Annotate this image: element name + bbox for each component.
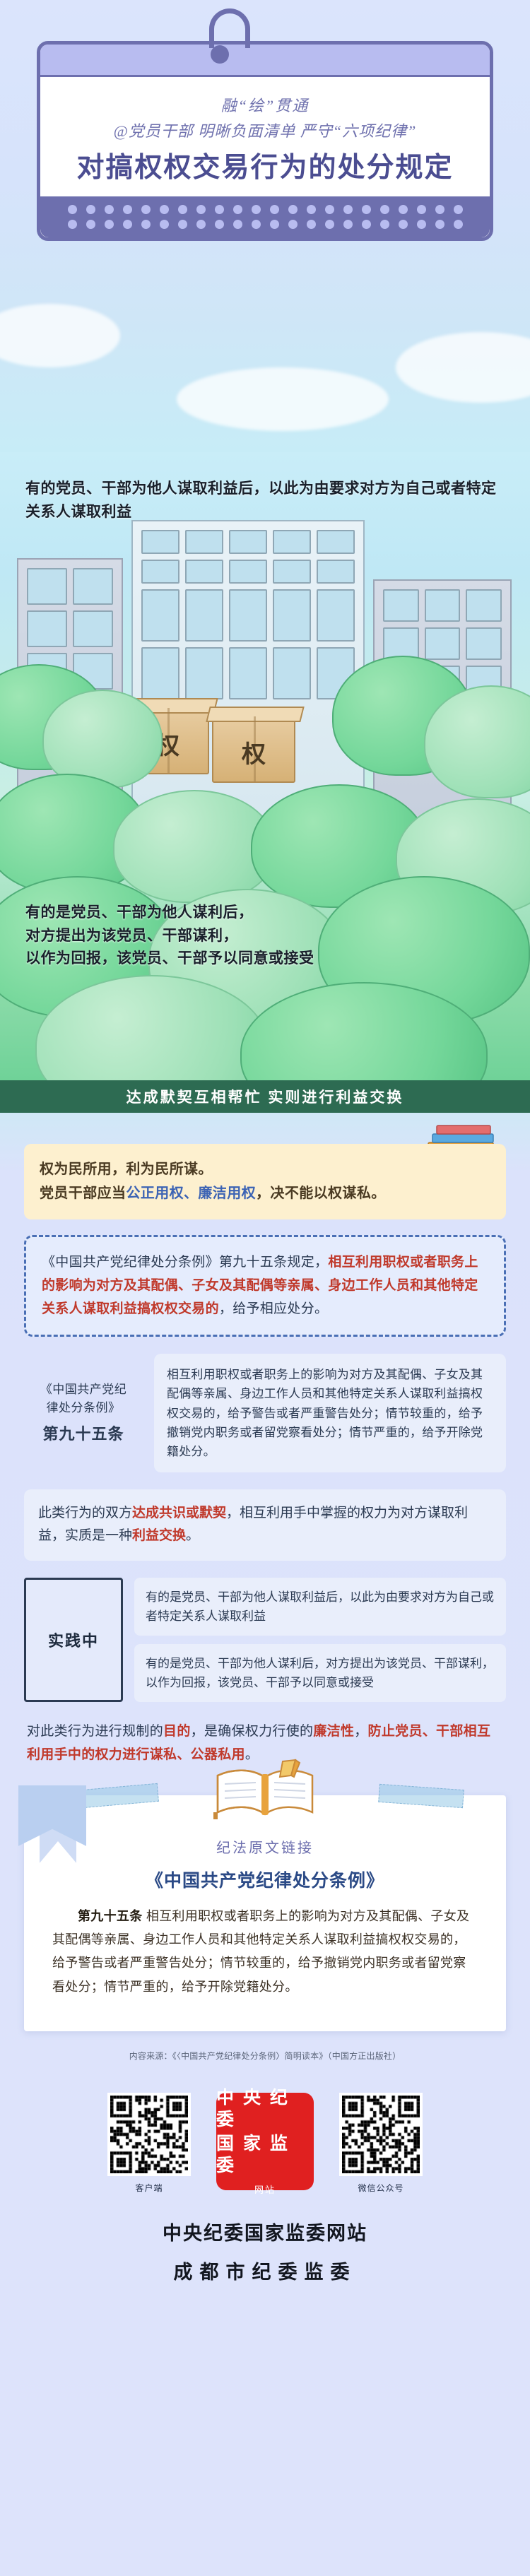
header-zone: 融“绘”贯通 @党员干部 明晰负面清单 严守“六项纪律” 对搞权权交易行为的处分…	[0, 0, 530, 452]
logo-line-3: 网站	[254, 2182, 276, 2196]
qr-canvas-wechat	[342, 2096, 420, 2173]
nature-pre: 此类行为的双方	[38, 1506, 132, 1520]
header-kicker-line1: 融“绘”贯通	[59, 94, 471, 117]
scene-text-block-1: 有的党员、干部为他人谋取利益后，以此为由要求对方为自己或者特定关系人谋取利益	[25, 478, 505, 524]
qr-code-wechat[interactable]	[339, 2093, 423, 2176]
content-zone: 权为民所用，利为民所谋。 党员干部应当公正用权、廉洁用权，决不能以权谋私。 《中…	[0, 1113, 530, 1774]
power-box-right: 权	[212, 715, 295, 783]
law-source-text: 第九十五条 相互利用职权或者职务上的影响为对方及其配偶、子女及其配偶等亲属、身边…	[52, 1905, 478, 1999]
law-source-article-no: 第九十五条	[78, 1909, 143, 1923]
regulation-summary-pre: 《中国共产党纪律处分条例》第九十五条规定，	[42, 1255, 328, 1270]
tape-decor-right	[378, 1784, 464, 1808]
header-card-body: 融“绘”贯通 @党员干部 明晰负面清单 严守“六项纪律” 对搞权权交易行为的处分…	[40, 77, 490, 196]
article-95-row: 《中国共产党纪 律处分条例》 第九十五条 相互利用职权或者职务上的影响为对方及其…	[24, 1354, 506, 1472]
practice-item: 有的是党员、干部为他人谋利后，对方提出为该党员、干部谋利，以作为回报，该党员、干…	[134, 1644, 506, 1702]
header-kicker-line2: @党员干部 明晰负面清单 严守“六项纪律”	[59, 119, 471, 143]
logo-line-1: 中 央 纪 委	[216, 2087, 314, 2132]
scene-banner-text: 达成默契互相帮忙 实则进行利益交换	[126, 1086, 404, 1107]
nature-highlight-1: 达成共识或默契	[132, 1506, 226, 1520]
dot-row-top	[68, 205, 463, 214]
cloud-decor	[396, 332, 530, 403]
qr-label-wechat: 微信公众号	[358, 2182, 404, 2194]
qr-canvas-client	[110, 2096, 188, 2173]
header-card: 融“绘”贯通 @党员干部 明晰负面清单 严守“六项纪律” 对搞权权交易行为的处分…	[37, 41, 493, 241]
qr-item-wechat[interactable]: 微信公众号	[339, 2093, 423, 2194]
source-note: 内容来源：《〈中国共产党纪律处分条例〉简明读本》（中国方正出版社）	[24, 2050, 506, 2062]
scene-text-2-line1: 有的是党员、干部为他人谋利后，	[25, 902, 505, 925]
practice-items: 有的是党员、干部为他人谋取利益后，以此为由要求对方为自己或者特定关系人谋取利益 …	[134, 1578, 506, 1703]
principle-line2-pre: 党员干部应当	[40, 1186, 126, 1201]
hanger-dot-icon	[211, 45, 229, 64]
summary-mid-2: ，	[354, 1724, 367, 1739]
header-card-footer	[40, 196, 490, 237]
header-card-topbar	[40, 45, 490, 77]
principle-card: 权为民所用，利为民所谋。 党员干部应当公正用权、廉洁用权，决不能以权谋私。	[24, 1144, 506, 1219]
cloud-decor	[177, 367, 389, 431]
article-95-number: 第九十五条	[42, 1422, 124, 1446]
principle-line-1: 权为民所用，利为民所谋。	[40, 1158, 490, 1182]
regulation-summary-card: 《中国共产党纪律处分条例》第九十五条规定，相互利用职权或者职务上的影响为对方及其…	[24, 1235, 506, 1337]
principle-line2-highlight: 公正用权、廉洁用权	[126, 1186, 256, 1201]
regulation-summary-post: ，给予相应处分。	[219, 1301, 328, 1316]
summary-pre: 对此类行为进行规制的	[27, 1724, 163, 1739]
cloud-decor	[0, 304, 120, 367]
qr-item-client[interactable]: 客户端	[107, 2093, 191, 2194]
practice-item: 有的是党员、干部为他人谋取利益后，以此为由要求对方为自己或者特定关系人谋取利益	[134, 1578, 506, 1636]
article-95-body: 相互利用职权或者职务上的影响为对方及其配偶、子女及其配偶等亲属、身边工作人员和其…	[154, 1354, 506, 1472]
law-source-title: 《中国共产党纪律处分条例》	[52, 1867, 478, 1892]
nature-card: 此类行为的双方达成共识或默契，相互利用手中掌握的权力为对方谋取利益，实质是一种利…	[24, 1489, 506, 1561]
article-95-label-line2: 律处分条例》	[47, 1399, 121, 1417]
scene-banner: 达成默契互相帮忙 实则进行利益交换	[0, 1080, 530, 1113]
summary-highlight-1: 目的	[163, 1724, 191, 1739]
illustration-scene: 权 权 有的党员、干部为他人谋取利益后，以此为由要求对方为自己或者特定关系人谋取…	[0, 452, 530, 1113]
practice-label: 实践中	[24, 1578, 123, 1703]
scene-text-2-line3: 以作为回报，该党员、干部予以同意或接受	[25, 947, 505, 971]
law-source-card: 纪法原文链接 《中国共产党纪律处分条例》 第九十五条 相互利用职权或者职务上的影…	[24, 1795, 506, 2031]
law-source-kicker: 纪法原文链接	[52, 1836, 478, 1857]
logo-line-2: 国 家 监 委	[216, 2133, 314, 2178]
hanger-hook-icon	[209, 8, 250, 48]
scene-text-block-2: 有的是党员、干部为他人谋利后， 对方提出为该党员、干部谋利， 以作为回报，该党员…	[25, 902, 505, 971]
footer-zone: 客户端 中 央 纪 委 国 家 监 委 网站 微信公众号 中央纪委国家监委网站 …	[0, 2076, 530, 2312]
footer-titles: 中央纪委国家监委网站 成都市纪委监委	[0, 2218, 530, 2284]
article-95-label-line1: 《中国共产党纪	[40, 1381, 127, 1399]
nature-highlight-2: 利益交换	[132, 1528, 186, 1543]
scene-text-2-line2: 对方提出为该党员、干部谋利，	[25, 925, 505, 948]
qr-row: 客户端 中 央 纪 委 国 家 监 委 网站 微信公众号	[0, 2093, 530, 2194]
law-source-zone: 纪法原文链接 《中国共产党纪律处分条例》 第九十五条 相互利用职权或者职务上的影…	[0, 1774, 530, 2076]
principle-line-2: 党员干部应当公正用权、廉洁用权，决不能以权谋私。	[40, 1182, 490, 1206]
dot-row-bottom	[68, 220, 463, 229]
footer-title-2: 成都市纪委监委	[0, 2257, 530, 2284]
nature-post: 。	[186, 1528, 199, 1543]
footer-title-1: 中央纪委国家监委网站	[0, 2218, 530, 2245]
qr-code-client[interactable]	[107, 2093, 191, 2176]
practice-row: 实践中 有的是党员、干部为他人谋取利益后，以此为由要求对方为自己或者特定关系人谋…	[24, 1578, 506, 1703]
summary-mid-1: ，是确保权力行使的	[191, 1724, 314, 1739]
logo-badge: 中 央 纪 委 国 家 监 委 网站	[216, 2093, 314, 2190]
power-box-right-char: 权	[213, 735, 294, 769]
qr-label-client: 客户端	[135, 2182, 163, 2194]
summary-highlight-2: 廉洁性	[313, 1724, 354, 1739]
principle-line2-post: ，决不能以权谋私。	[256, 1186, 386, 1201]
article-95-label: 《中国共产党纪 律处分条例》 第九十五条	[24, 1354, 143, 1472]
page-title: 对搞权权交易行为的处分规定	[59, 152, 471, 185]
open-book-icon	[212, 1759, 318, 1819]
